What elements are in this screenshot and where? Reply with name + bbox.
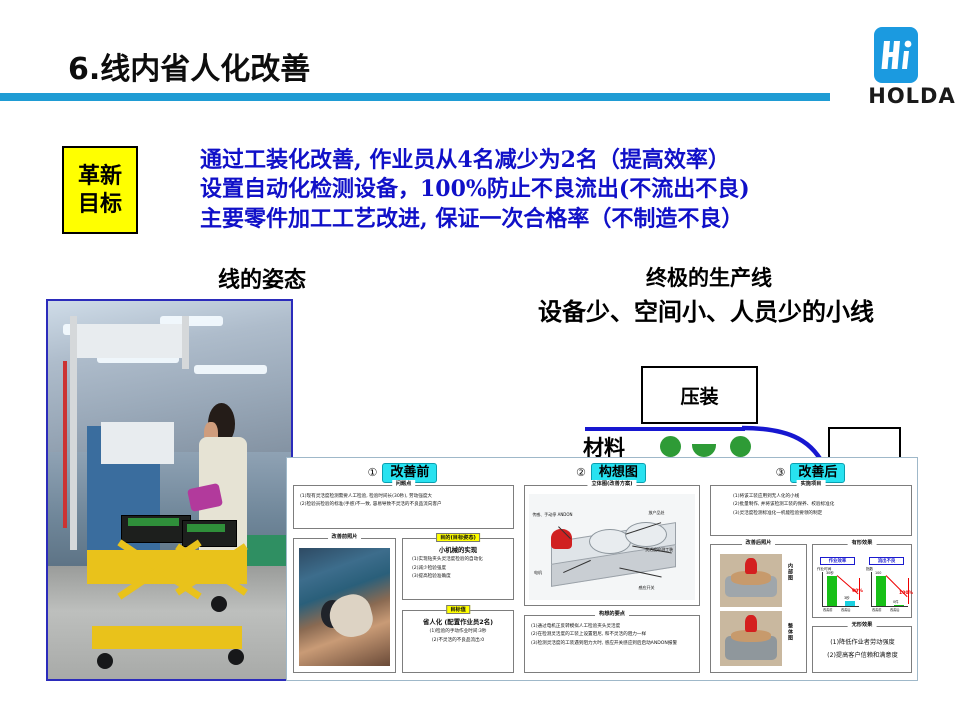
problem-points-box: 问题点 (1)现有灵活度检测需要人工检验, 检验时间长(30秒), 劳动强度大 … <box>293 485 514 529</box>
panel-concept: ② 构想图 立体图(改善方案) 传感、手动停 ANDON 放 <box>518 458 705 680</box>
target-item: (2)不灵活的不良品流出:0 <box>407 637 509 646</box>
before-photo-box: 改善前照片 <box>293 538 396 673</box>
factory-photo <box>46 299 293 681</box>
panel-before: ① 改善前 问题点 (1)现有灵活度检测需要人工检验, 检验时间长(30秒), … <box>287 458 519 680</box>
chart-b-plot: 100 0件 100% 改善前 改善后 <box>871 572 908 607</box>
diagram-label-andon: 传感、手动停 ANDON <box>532 512 578 518</box>
tangible-effect-box: 有形效果 作业效率 作业时间 30秒 3秒 90% <box>812 544 912 618</box>
chart-a-bar-before <box>827 576 837 606</box>
target-value-heading: 省人化 (配置作业员2名) <box>403 617 513 626</box>
after-photo-legend: 改善后照片 <box>742 539 776 546</box>
goal-line-1: 通过工装化改善, 作业员从4名减少为2名（提高效率） <box>200 146 960 175</box>
diagram-label-sensor: 感应开关 <box>639 585 655 591</box>
problem-item: (1)现有灵活度检测需要人工检验, 检验时间长(30秒), 劳动强度大 <box>300 493 508 501</box>
andon-lamp-icon <box>745 558 756 574</box>
intangible-item: (1)降低作业者劳动强度 <box>819 636 906 649</box>
innovation-goal-badge: 革新 目标 <box>62 146 138 234</box>
goal-badge-line1: 革新 <box>78 162 122 190</box>
chart-b-bar-after <box>894 605 904 606</box>
chart-b-annotation: 100% <box>899 591 913 596</box>
effect-charts: 作业效率 作业时间 30秒 3秒 90% 改善前 改善后 <box>813 557 911 607</box>
before-photo-legend: 改善前照片 <box>328 533 362 540</box>
andon-lamp-icon <box>745 615 756 632</box>
operator-dot <box>730 436 751 457</box>
problem-item: (2)检验员检验的标准(手感)不一致, 容易导致不灵活的不良品流向客户 <box>300 501 508 509</box>
chart-a-plot: 30秒 3秒 90% 改善前 改善后 <box>822 572 859 607</box>
flow-line-horizontal <box>585 427 745 431</box>
after-photo-overall <box>720 611 782 666</box>
purpose-items: (1)实现钻夹头灵活度检验的自动化 (2)减少检验强度 (3)提高检验准确度 <box>403 554 513 582</box>
before-photo-image <box>299 548 390 666</box>
photo-lift-cart-base <box>92 626 243 649</box>
implementation-item: (3)灵活度检测标准化一机能检验要领的制定 <box>733 510 906 518</box>
photo-tray-contents <box>187 524 226 532</box>
concept-points-box: 构想的要点 (1)通过电机正反转模拟人工检验夹头灵活度 (2)在检测灵活度的工装… <box>524 615 700 673</box>
after-photo-side-label-internal: 内部图 <box>787 563 794 581</box>
concept-diagram-legend: 立体图(改善方案) <box>587 480 636 487</box>
photo-wheel <box>97 653 113 669</box>
intangible-item: (2)提高客户信赖和满意度 <box>819 649 906 662</box>
chart-a-annotation: 90% <box>852 589 863 594</box>
concept-points-body: (1)通过电机正反转模拟人工检验夹头灵活度 (2)在检测灵活度的工装上设置阻尼,… <box>525 616 699 650</box>
diagram-label-fixture: 灵活度检测工装 <box>645 547 673 553</box>
implementation-item: (1)将该工装应用到无人化的小线 <box>733 493 906 501</box>
chart-b-xtick-before: 改善前 <box>872 607 882 612</box>
concept-3d-illustration: 传感、手动停 ANDON 放产品处 灵活度检测工装 电机 感应开关 <box>529 494 695 600</box>
chart-work-efficiency: 作业效率 作业时间 30秒 3秒 90% 改善前 改善后 <box>816 557 859 607</box>
chart-b-xtick-after: 改善后 <box>890 607 900 612</box>
subtitle-small-line: 设备少、空间小、人员少的小线 <box>538 292 874 327</box>
header-divider <box>0 93 830 101</box>
press-station-box: 压装 <box>641 366 758 424</box>
problem-points-legend: 问题点 <box>392 480 416 487</box>
target-item: (1)检验的手动作业时间:3秒 <box>407 628 509 637</box>
target-value-box: 目标值 省人化 (配置作业员2名) (1)检验的手动作业时间:3秒 (2)不灵活… <box>402 610 514 673</box>
operator-dot <box>692 444 716 457</box>
panel-concept-number: ② <box>576 466 586 479</box>
goal-line-3: 主要零件加工工艺改进, 保证一次合格率（不制造不良） <box>200 205 960 234</box>
after-photo-side-label-overall: 整体图 <box>787 623 794 641</box>
chart-defect-outflow: 流出不良 指数 100 0件 100% 改善前 改善后 <box>865 557 908 607</box>
photo-lamp <box>194 365 267 373</box>
implementation-items-body: (1)将该工装应用到无人化的小线 (2)批量制作, 并将该检测工装的保养、校验标… <box>711 486 911 520</box>
photo-white-panel <box>101 422 174 464</box>
photo-frame-post <box>182 316 189 369</box>
andon-lamp-icon <box>551 529 573 549</box>
diagram-label-product: 放产品处 <box>649 510 665 516</box>
chart-a-bar-after <box>845 601 855 606</box>
chart-a-value-after: 3秒 <box>844 595 850 600</box>
chart-a-value-before: 30秒 <box>826 570 834 575</box>
purpose-item: (2)减少检验强度 <box>412 565 509 574</box>
photo-frame-post <box>70 316 77 550</box>
chart-a-xtick-after: 改善后 <box>841 607 851 612</box>
diagram-label-motor: 电机 <box>534 570 542 576</box>
after-photo-internal <box>720 554 782 607</box>
after-photo-box: 改善后照片 内部图 整体图 <box>710 544 807 673</box>
chart-b-value-before: 100 <box>875 571 881 575</box>
goal-line-2: 设置自动化检测设备，100%防止不良流出(不流出不良) <box>200 175 960 204</box>
problem-points-body: (1)现有灵活度检测需要人工检验, 检验时间长(30秒), 劳动强度大 (2)检… <box>294 486 513 512</box>
photo-red-cable <box>63 361 67 527</box>
subtitle-line-posture: 线的姿态 <box>218 262 306 294</box>
chart-b-value-after: 0件 <box>893 599 899 604</box>
intangible-effect-box: 无形效果 (1)降低作业者劳动强度 (2)提高客户信赖和满意度 <box>812 626 912 673</box>
subtitle-ultimate-line: 终极的生产线 <box>646 262 772 292</box>
target-value-legend: 目标值 <box>446 605 470 614</box>
concept-point: (3)检测灵活度的工装遇到阻力大时, 感应开关感应到后启动ANDON报警 <box>531 640 694 648</box>
hi-icon <box>874 27 918 83</box>
purpose-item: (3)提高检验准确度 <box>412 573 509 582</box>
a3-improvement-sheet: ① 改善前 问题点 (1)现有灵活度检测需要人工检验, 检验时间长(30秒), … <box>286 457 918 681</box>
holda-logo-mark <box>874 27 918 83</box>
goal-badge-line2: 目标 <box>78 190 122 218</box>
page-title: 6.线内省人化改善 <box>68 44 310 88</box>
holda-logo-text: HOLDA <box>866 84 958 108</box>
photo-white-panel <box>72 324 189 358</box>
machine-disc <box>625 522 667 547</box>
purpose-box: 目的(目标姿态) 小机械的实现 (1)实现钻夹头灵活度检验的自动化 (2)减少检… <box>402 538 514 600</box>
panel-after: ③ 改善后 实施项目 (1)将该工装应用到无人化的小线 (2)批量制作, 并将该… <box>704 458 917 680</box>
implementation-items-box: 实施项目 (1)将该工装应用到无人化的小线 (2)批量制作, 并将该检测工装的保… <box>710 485 912 536</box>
chart-a-xtick-before: 改善前 <box>823 607 833 612</box>
slide-root: 6.线内省人化改善 HOLDA 革新 目标 通过工装化改善, 作业员从4名减少为… <box>0 0 960 720</box>
concept-point: (1)通过电机正反转模拟人工检验夹头灵活度 <box>531 623 694 631</box>
goal-statement-list: 通过工装化改善, 作业员从4名减少为2名（提高效率） 设置自动化检测设备，100… <box>200 146 960 234</box>
concept-points-legend: 构想的要点 <box>595 610 629 617</box>
photo-tray-contents <box>128 518 179 526</box>
target-value-items: (1)检验的手动作业时间:3秒 (2)不灵活的不良品流出:0 <box>403 626 513 645</box>
chart-a-title: 作业效率 <box>820 557 856 565</box>
purpose-item: (1)实现钻夹头灵活度检验的自动化 <box>412 556 509 565</box>
panel-before-number: ① <box>368 466 378 479</box>
intangible-effect-legend: 无形效果 <box>848 621 877 628</box>
photo-wheel <box>211 596 227 612</box>
implementation-items-legend: 实施项目 <box>797 480 826 487</box>
purpose-heading: 小机械的实现 <box>403 545 513 554</box>
photo-wheel <box>228 649 244 665</box>
concept-diagram-box: 立体图(改善方案) 传感、手动停 ANDON 放产品处 灵活度检测工装 电机 <box>524 485 700 606</box>
panel-after-number: ③ <box>776 466 786 479</box>
purpose-legend: 目的(目标姿态) <box>436 533 480 542</box>
concept-point: (2)在检测灵活度的工装上设置阻尼, 和不灵活的阻力一样 <box>531 631 694 639</box>
operator-dot <box>660 436 681 457</box>
press-station-label: 压装 <box>680 382 718 409</box>
intangible-effect-body: (1)降低作业者劳动强度 (2)提高客户信赖和满意度 <box>813 627 911 664</box>
chart-b-bar-before <box>876 576 886 606</box>
chart-b-title: 流出不良 <box>869 557 905 565</box>
implementation-item: (2)批量制作, 并将该检测工装的保养、校验标准化 <box>733 501 906 509</box>
tangible-effect-legend: 有形效果 <box>848 539 877 546</box>
